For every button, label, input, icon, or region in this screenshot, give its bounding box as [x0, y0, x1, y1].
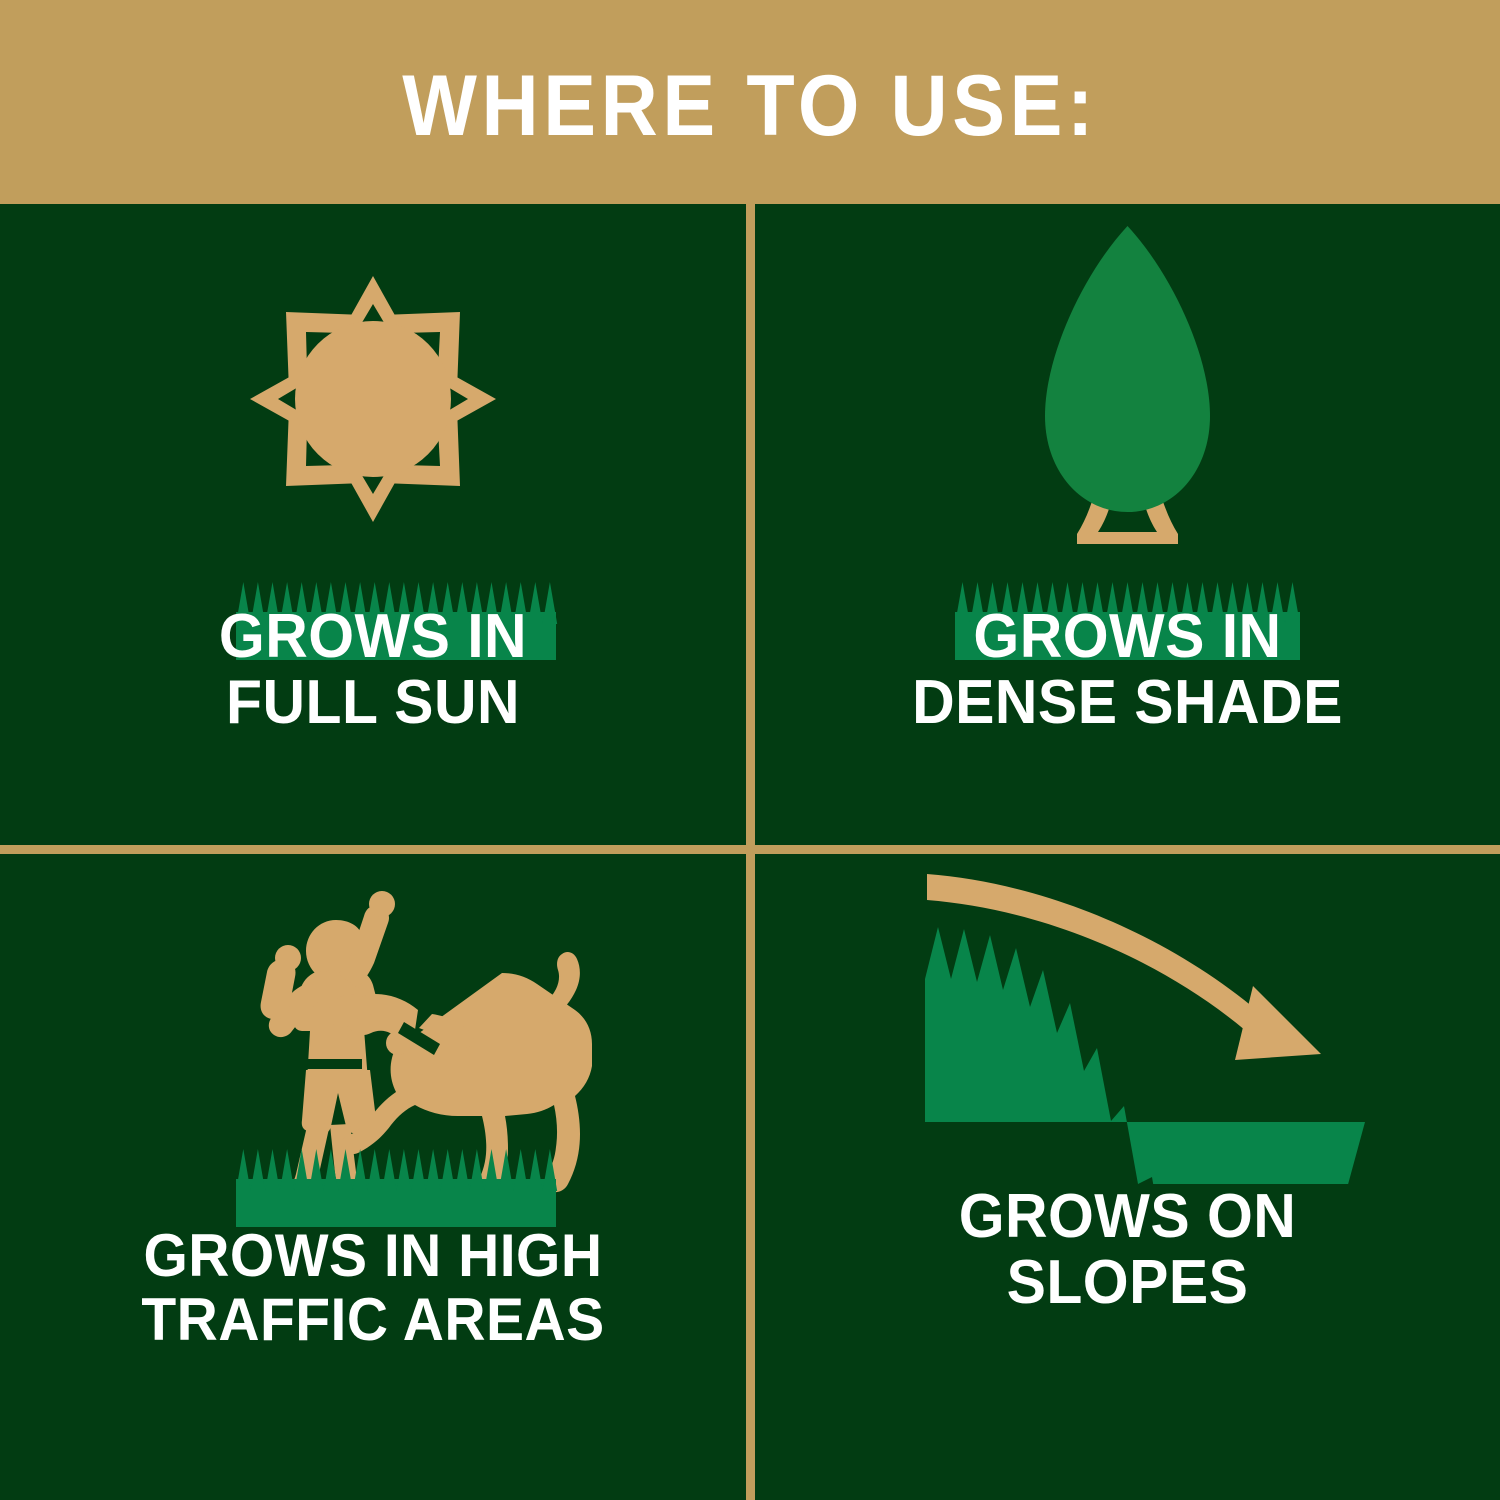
- panel-label-high-traffic: GROWS IN HIGH TRAFFIC AREAS: [19, 1224, 728, 1351]
- sloped-grass-with-arrow-icon: [755, 854, 1500, 1184]
- page-title: WHERE TO USE:: [402, 63, 1098, 149]
- panel-label-dense-shade: GROWS IN DENSE SHADE: [774, 604, 1482, 735]
- panel-dense-shade: GROWS IN DENSE SHADE: [755, 204, 1500, 845]
- child-fist-left: [275, 945, 301, 971]
- tree-icon: [755, 204, 1500, 604]
- slopes-artwork: [755, 854, 1500, 1184]
- tree-canopy: [1045, 226, 1210, 512]
- panel-label-slopes: GROWS ON SLOPES: [774, 1184, 1482, 1315]
- panel-full-sun: GROWS IN FULL SUN: [0, 204, 746, 845]
- panel-label-full-sun: GROWS IN FULL SUN: [19, 604, 728, 735]
- full-sun-artwork: [0, 204, 746, 604]
- sun-icon: [0, 204, 746, 604]
- panel-slopes: GROWS ON SLOPES: [755, 854, 1500, 1500]
- header-band: WHERE TO USE:: [0, 0, 1500, 204]
- horizontal-divider: [0, 845, 1500, 854]
- dense-shade-artwork: [755, 204, 1500, 604]
- high-traffic-artwork: [0, 854, 746, 1224]
- panel-high-traffic: GROWS IN HIGH TRAFFIC AREAS: [0, 854, 746, 1500]
- where-to-use-infographic: WHERE TO USE:: [0, 0, 1500, 1500]
- child-fist-right: [369, 891, 395, 917]
- child-belt: [300, 1059, 362, 1069]
- grass-strip: [0, 1139, 746, 1235]
